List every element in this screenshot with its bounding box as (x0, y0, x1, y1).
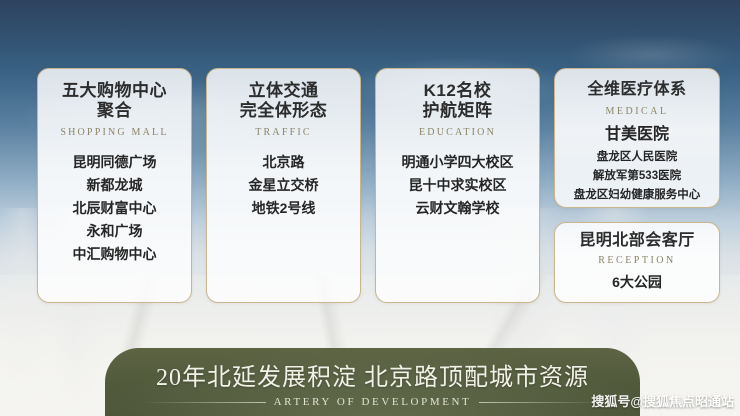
list-item: 盘龙区人民医院 (555, 149, 719, 167)
info-card-reception: 昆明北部会客厅 RECEPTION 6大公园 (554, 222, 720, 303)
card-title-line: 聚合 (38, 101, 191, 121)
banner-rule-right (479, 402, 602, 403)
list-item: 北京路 (207, 152, 360, 173)
list-item: 解放军第533医院 (555, 168, 719, 186)
card-title-traffic: 立体交通 完全体形态 (207, 81, 360, 121)
info-card-education: K12名校 护航矩阵 EDUCATION 明通小学四大校区 昆十中求实校区 云财… (375, 68, 540, 303)
info-card-medical: 全维医疗体系 MEDICAL 甘美医院 盘龙区人民医院 解放军第533医院 盘龙… (554, 68, 720, 208)
banner-subtitle: ARTERY OF DEVELOPMENT (274, 396, 472, 408)
info-card-shopping: 五大购物中心 聚合 SHOPPING MALL 昆明同德广场 新都龙城 北辰财富… (37, 68, 192, 303)
list-item: 昆明同德广场 (38, 152, 191, 173)
card-title-line: 全维医疗体系 (555, 81, 719, 100)
list-item: 云财文翰学校 (376, 198, 539, 219)
card-title-line: 昆明北部会客厅 (555, 232, 719, 251)
card-title-shopping: 五大购物中心 聚合 (38, 81, 191, 121)
list-item: 昆十中求实校区 (376, 175, 539, 196)
card-item-list-medical: 甘美医院 盘龙区人民医院 解放军第533医院 盘龙区妇幼健康服务中心 (555, 123, 719, 204)
list-item: 6大公园 (555, 272, 719, 293)
list-item: 永和广场 (38, 221, 191, 242)
list-item: 新都龙城 (38, 175, 191, 196)
card-title-line: 护航矩阵 (376, 101, 539, 121)
card-item-list-education: 明通小学四大校区 昆十中求实校区 云财文翰学校 (376, 152, 539, 219)
list-item: 盘龙区妇幼健康服务中心 (555, 187, 719, 205)
card-title-reception: 昆明北部会客厅 (555, 232, 719, 251)
card-title-line: 立体交通 (207, 81, 360, 101)
card-title-education: K12名校 护航矩阵 (376, 81, 539, 121)
banner-rule-left (143, 402, 266, 403)
card-title-line: 完全体形态 (207, 101, 360, 121)
info-card-traffic: 立体交通 完全体形态 TRAFFIC 北京路 金星立交桥 地铁2号线 (206, 68, 361, 303)
card-subtitle-medical: MEDICAL (555, 106, 719, 117)
card-subtitle-shopping: SHOPPING MALL (38, 127, 191, 138)
card-item-list-shopping: 昆明同德广场 新都龙城 北辰财富中心 永和广场 中汇购物中心 (38, 152, 191, 265)
list-item: 北辰财富中心 (38, 198, 191, 219)
watermark-text: 搜狐号@搜狐焦点昭通站 (591, 391, 734, 410)
list-item: 明通小学四大校区 (376, 152, 539, 173)
list-item: 金星立交桥 (207, 175, 360, 196)
card-subtitle-traffic: TRAFFIC (207, 127, 360, 138)
list-item: 地铁2号线 (207, 198, 360, 219)
card-title-line: K12名校 (376, 81, 539, 101)
card-item-list-reception: 6大公园 (555, 272, 719, 293)
card-subtitle-reception: RECEPTION (555, 255, 719, 266)
card-subtitle-education: EDUCATION (376, 127, 539, 138)
bottom-banner: 20年北延发展积淀 北京路顶配城市资源 ARTERY OF DEVELOPMEN… (105, 348, 640, 416)
card-title-line: 五大购物中心 (38, 81, 191, 101)
card-title-medical: 全维医疗体系 (555, 81, 719, 100)
card-item-list-traffic: 北京路 金星立交桥 地铁2号线 (207, 152, 360, 219)
banner-subtitle-row: ARTERY OF DEVELOPMENT (105, 396, 640, 408)
list-item-lead: 甘美医院 (555, 123, 719, 147)
banner-title: 20年北延发展积淀 北京路顶配城市资源 (105, 357, 640, 392)
list-item: 中汇购物中心 (38, 244, 191, 265)
